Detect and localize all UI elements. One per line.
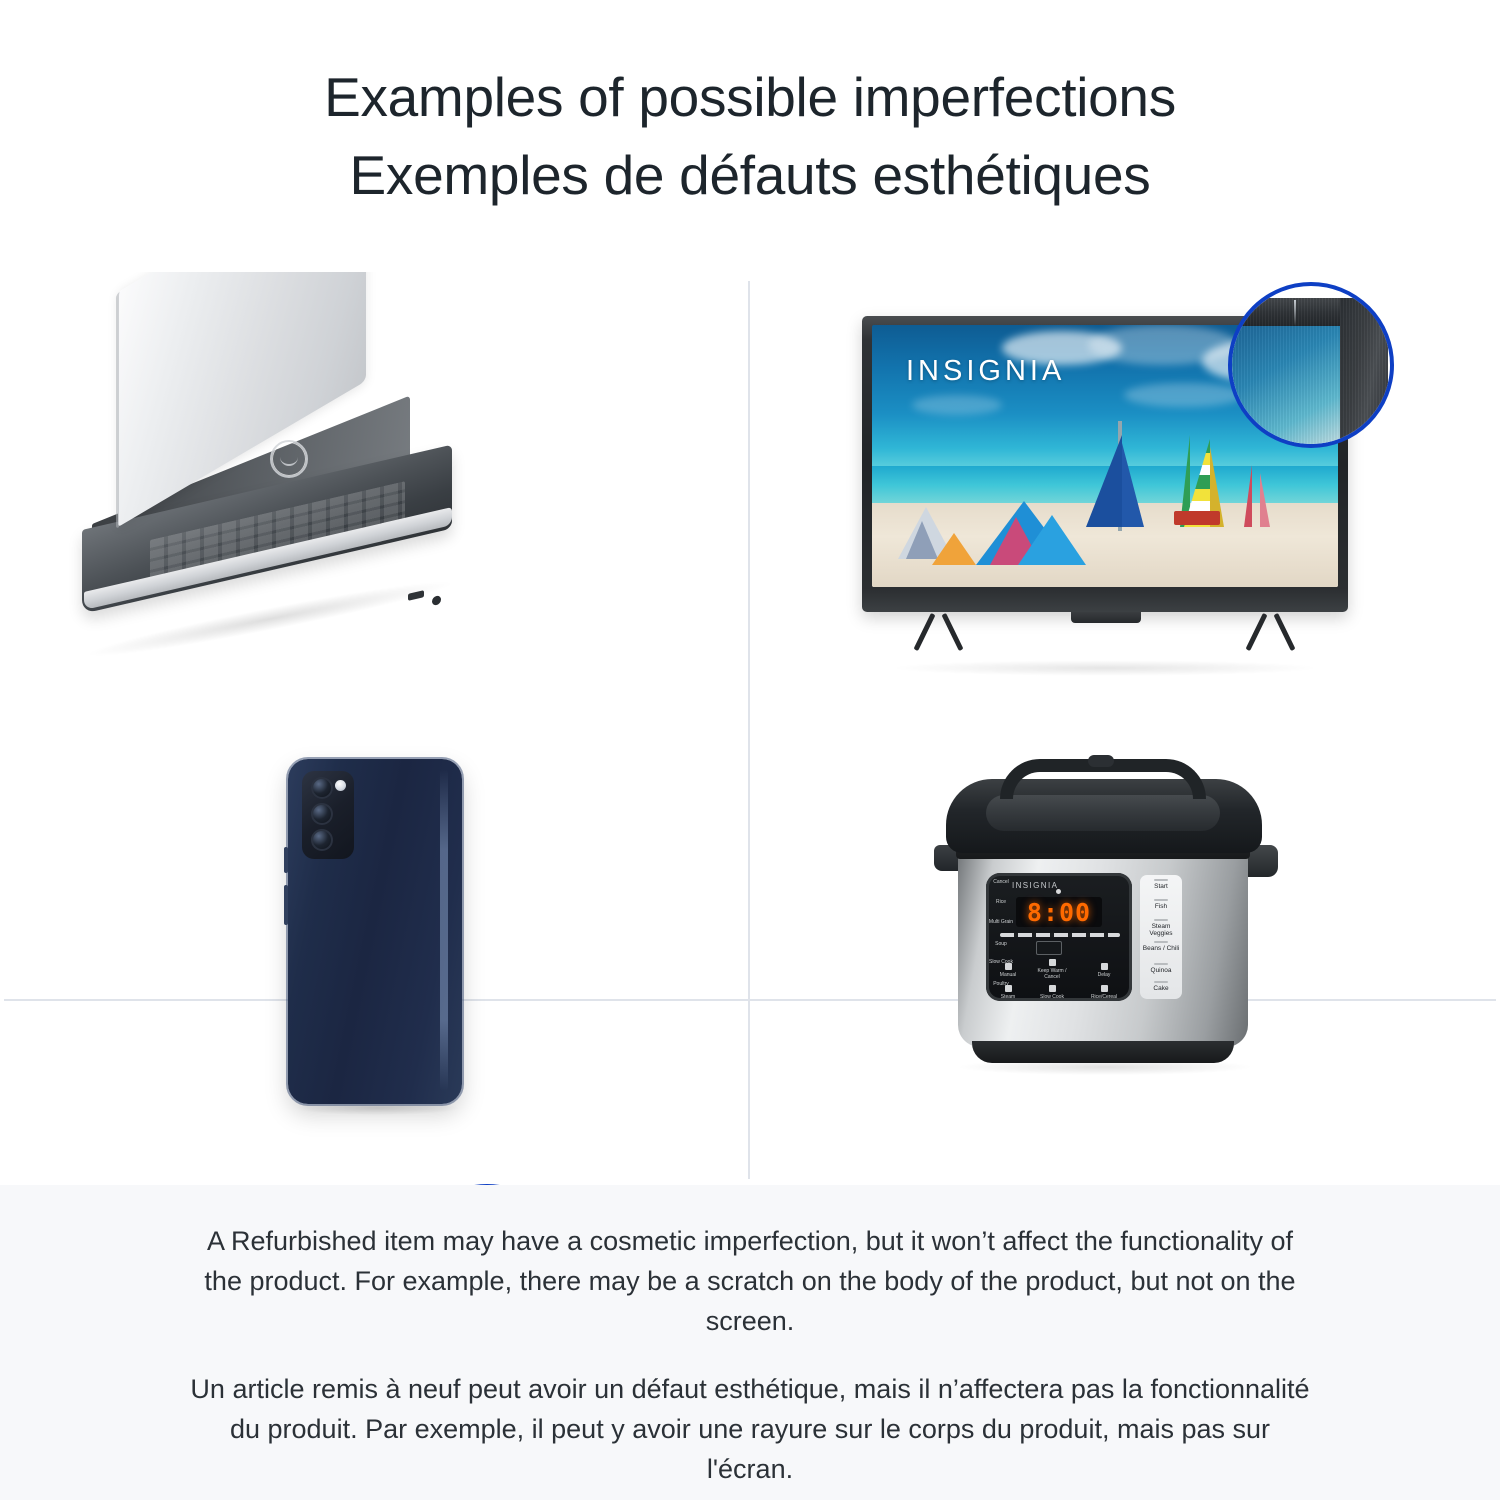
cloud-shape xyxy=(912,395,1002,415)
smartphone-illustration xyxy=(0,729,748,1185)
dell-logo-icon xyxy=(270,440,308,478)
tv-leg-right-a xyxy=(1245,613,1267,651)
cooker-base xyxy=(972,1041,1234,1063)
cooker-button-fish[interactable]: Fish xyxy=(1142,899,1180,910)
zoom-tv-texture xyxy=(1228,298,1388,448)
cooker-button-beans-chili[interactable]: Beans / Chili xyxy=(1142,941,1180,952)
cooker-brand-label: INSIGNIA xyxy=(1012,881,1058,890)
disclaimer-text-en: A Refurbished item may have a cosmetic i… xyxy=(185,1221,1315,1341)
tv-neck xyxy=(1071,612,1141,623)
camera-lens-1 xyxy=(311,777,333,799)
disclaimer-footer: A Refurbished item may have a cosmetic i… xyxy=(0,1185,1500,1500)
magnifier-circle-television xyxy=(1228,282,1394,448)
page-header: Examples of possible imperfections Exemp… xyxy=(0,0,1500,272)
cooker-label-multi-grain: Multi Grain xyxy=(988,919,1014,925)
pink-sail xyxy=(1244,465,1252,527)
laptop-illustration xyxy=(0,272,748,727)
cooker-key-rice-cereal[interactable]: Rice/Cereal xyxy=(1088,985,1120,1000)
cooker-button-cake[interactable]: Cake xyxy=(1142,981,1180,992)
cooker-button-quinoa[interactable]: Quinoa xyxy=(1142,963,1180,974)
cooker-label-soup: Soup xyxy=(988,941,1014,947)
pressure-cooker-illustration: INSIGNIA 8:00 Manual Keep Warm / Cancel … xyxy=(750,729,1500,1185)
cooker-label-rice: Rice xyxy=(988,899,1014,905)
cooker-lid-face xyxy=(986,795,1220,831)
camera-module xyxy=(302,771,354,859)
page-title-fr: Exemples de défauts esthétiques xyxy=(350,140,1151,210)
cooker-label-cancel: Cancel xyxy=(988,879,1014,885)
beach-tent-blue-2 xyxy=(1018,515,1086,565)
panel-pressure-cooker: INSIGNIA 8:00 Manual Keep Warm / Cancel … xyxy=(750,729,1500,1185)
blue-sail xyxy=(1086,435,1122,527)
panel-television: INSIGNIA xyxy=(750,272,1500,727)
camera-flash-icon xyxy=(335,780,346,791)
beach-tent-orange xyxy=(932,533,976,565)
camera-lens-2 xyxy=(311,803,333,825)
cooker-display: 8:00 xyxy=(1016,897,1102,927)
examples-grid: INSIGNIA xyxy=(0,272,1500,1185)
cooker-left-label-column: Cancel Rice Multi Grain Soup Slow Cook P… xyxy=(988,879,1014,997)
cooker-button-steam-veggies[interactable]: Steam Veggies xyxy=(1142,919,1180,937)
tv-leg-left-a xyxy=(913,613,935,651)
hull xyxy=(1174,511,1220,525)
panel-smartphone xyxy=(0,729,748,1185)
cooker-button-start[interactable]: Start xyxy=(1142,879,1180,890)
television-illustration: INSIGNIA xyxy=(750,272,1500,727)
refurbished-imperfections-infographic: Examples of possible imperfections Exemp… xyxy=(0,0,1500,1500)
camera-lens-3 xyxy=(311,829,333,851)
cooker-progress-scale xyxy=(1000,933,1120,937)
cooker-steam-valve-icon xyxy=(1088,755,1114,767)
cloud-shape xyxy=(1124,383,1244,407)
cooker-status-led xyxy=(1056,889,1061,894)
tv-leg-right-b xyxy=(1273,613,1295,651)
pink-sail-b xyxy=(1260,473,1270,527)
tv-leg-left-b xyxy=(941,613,963,651)
cooker-key-delay[interactable]: Delay xyxy=(1088,963,1120,978)
cooker-key-slow-cook[interactable]: Slow Cook xyxy=(1036,985,1068,1000)
phone-volume-button xyxy=(284,847,288,873)
tv-bezel-scratch xyxy=(1294,300,1296,326)
page-title-en: Examples of possible imperfections xyxy=(324,62,1176,132)
cooker-label-slow-cook: Slow Cook xyxy=(988,959,1014,965)
blue-sail-back xyxy=(1122,443,1144,527)
cooker-display-value: 8:00 xyxy=(1027,898,1091,927)
panel-laptop xyxy=(0,272,748,727)
cooker-label-poultry: Poultry xyxy=(988,981,1014,987)
laptop-audio-port xyxy=(432,595,441,606)
phone-edge-highlight xyxy=(440,769,448,1091)
tv-shadow xyxy=(890,660,1320,676)
phone-power-button xyxy=(284,885,288,925)
cooker-key-keep-warm[interactable]: Keep Warm / Cancel xyxy=(1036,959,1068,980)
disclaimer-text-fr: Un article remis à neuf peut avoir un dé… xyxy=(185,1369,1315,1489)
tv-brand-logo: INSIGNIA xyxy=(906,355,1065,388)
